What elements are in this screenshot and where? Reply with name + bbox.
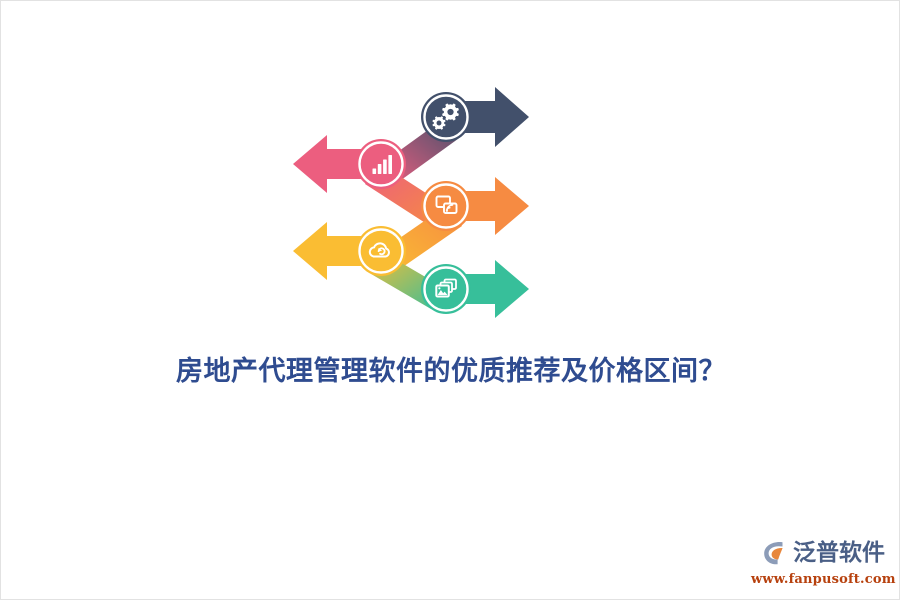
brand-watermark: 泛普软件 www.fanpusoft.com: [751, 535, 885, 591]
brand-row: 泛普软件: [751, 535, 885, 571]
step-1-gears[interactable]: [421, 87, 529, 147]
brand-name: 泛普软件: [793, 542, 885, 565]
step-3-screen-cast[interactable]: [421, 177, 529, 235]
step-4-cloud-sync[interactable]: [293, 222, 406, 280]
step-4-circle[interactable]: [356, 226, 406, 276]
fanpu-logo-icon: [760, 538, 790, 568]
page-root: 房地产代理管理软件的优质推荐及价格区间？ 泛普软件 www.fanpusoft.…: [0, 0, 900, 600]
five-step-arrow-infographic: [281, 79, 541, 319]
brand-url: www.fanpusoft.com: [751, 572, 885, 587]
step-2-circle[interactable]: [356, 139, 406, 189]
step-2-bar-chart[interactable]: [293, 135, 406, 193]
step-5-photo-gallery[interactable]: [421, 260, 529, 318]
page-title: 房地产代理管理软件的优质推荐及价格区间？: [1, 349, 900, 388]
